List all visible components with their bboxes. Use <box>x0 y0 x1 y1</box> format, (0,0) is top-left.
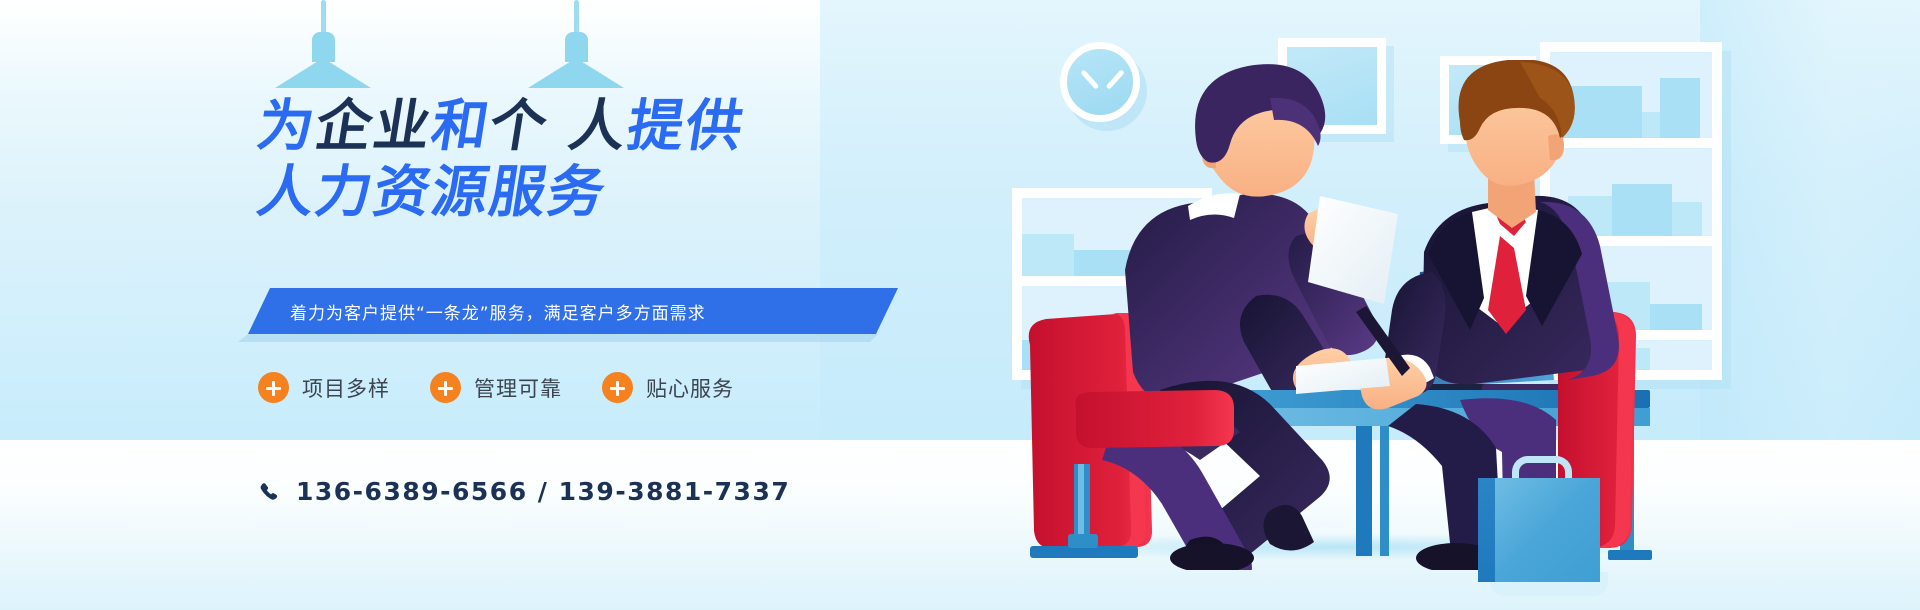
subtitle-ribbon: 着力为客户提供“一条龙”服务，满足客户多方面需求 <box>248 288 898 334</box>
plus-icon <box>430 372 461 403</box>
page-title: 为企业和个 人提供 人力资源服务 <box>258 96 744 224</box>
headline-seg-3: 和 <box>427 96 495 158</box>
wall-right-gradient <box>1700 0 1920 470</box>
briefcase-icon <box>1495 478 1600 582</box>
subtitle-text: 着力为客户提供“一条龙”服务，满足客户多方面需求 <box>248 299 706 324</box>
feature-item-3[interactable]: 贴心服务 <box>602 372 734 403</box>
headline-seg-4: 个 人 <box>485 96 632 158</box>
plus-icon <box>258 372 289 403</box>
feature-label: 管理可靠 <box>474 373 562 403</box>
hero-banner: 为企业和个 人提供 人力资源服务 着力为客户提供“一条龙”服务，满足客户多方面需… <box>0 0 1920 610</box>
feature-list: 项目多样 管理可靠 贴心服务 <box>258 372 734 403</box>
headline-line-2: 人力资源服务 <box>253 162 748 224</box>
plus-icon <box>602 372 633 403</box>
headline-seg-1: 为 <box>253 96 321 158</box>
headline-seg-2: 企业 <box>311 96 437 158</box>
ribbon-shadow <box>238 334 878 342</box>
people-and-furniture-illustration <box>1020 60 1720 570</box>
feature-label: 项目多样 <box>302 373 390 403</box>
feature-item-1[interactable]: 项目多样 <box>258 372 390 403</box>
feature-label: 贴心服务 <box>646 373 734 403</box>
contact-phone[interactable]: 136-6389-6566 / 139-3881-7337 <box>258 477 790 506</box>
feature-item-2[interactable]: 管理可靠 <box>430 372 562 403</box>
phone-number: 136-6389-6566 / 139-3881-7337 <box>296 477 790 506</box>
headline-seg-5: 提供 <box>623 96 749 158</box>
chair-seat-left <box>1075 390 1234 448</box>
banner-copy: 为企业和个 人提供 人力资源服务 着力为客户提供“一条龙”服务，满足客户多方面需… <box>0 0 920 610</box>
phone-icon <box>258 480 280 504</box>
